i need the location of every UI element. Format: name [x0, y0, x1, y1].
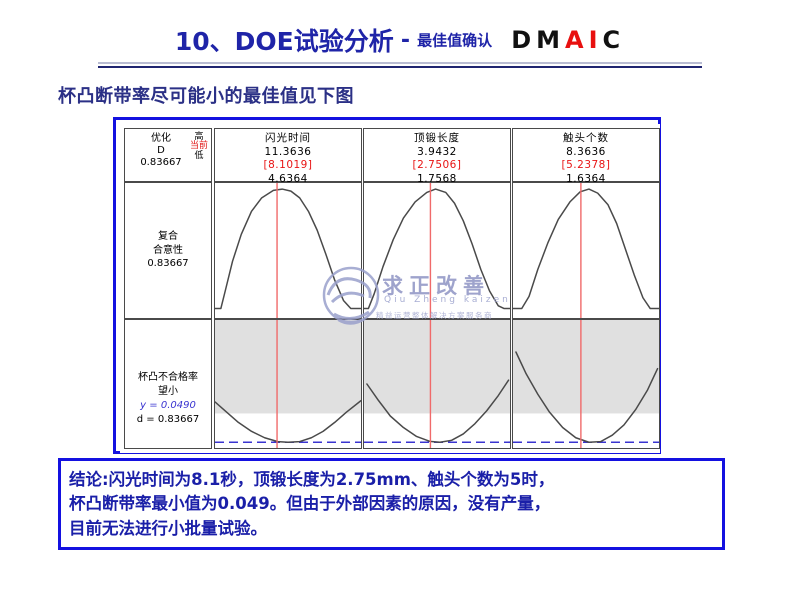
desirability-curve	[513, 189, 659, 308]
conclusion-line-2: 杯凸断带率最小值为0.049。但由于外部因素的原因，没有产量，	[69, 492, 717, 516]
factor-header-2: 顶锻长度3.9432[2.7506]1.7568	[363, 132, 511, 187]
title-dash: -	[399, 28, 412, 53]
plot-cell-r1-c3[interactable]	[512, 182, 660, 319]
page-subtitle: 杯凸断带率尽可能小的最佳值见下图	[58, 82, 354, 108]
composite-label-2: 合意性	[126, 244, 210, 258]
response-row-2-label: 杯凸不合格率 望小 y = 0.0490 d = 0.83667	[123, 371, 213, 427]
dmaic-letter-c: C	[603, 26, 626, 54]
plot-svg	[215, 320, 361, 448]
factor-current-value: [2.7506]	[363, 159, 511, 173]
plot-cell-r2-c2[interactable]	[363, 319, 511, 449]
plot-cell-r2-c1[interactable]	[214, 319, 362, 449]
factor-name: 顶锻长度	[363, 132, 511, 146]
dmaic-letter-m: M	[536, 26, 565, 54]
factor-header-1: 闪光时间11.3636[8.1019]4.6364	[214, 132, 362, 187]
response-goal: 望小	[123, 385, 213, 399]
conclusion-box: 结论:闪光时间为8.1秒，顶锻长度为2.75mm、触头个数为5时， 杯凸断带率最…	[58, 458, 725, 550]
title-number: 10、	[175, 27, 235, 56]
conclusion-line-3: 目前无法进行小批量试验。	[69, 517, 717, 541]
title-rule-top	[98, 62, 702, 64]
factor-high-value: 3.9432	[363, 146, 511, 160]
plot-svg	[364, 183, 510, 318]
plot-cell-r2-c3[interactable]	[512, 319, 660, 449]
factor-current-value: [5.2378]	[512, 159, 660, 173]
optimizer-corner-label: 优化 D 0.83667	[128, 133, 194, 168]
conclusion-text: 结论:闪光时间为8.1秒，顶锻长度为2.75mm、触头个数为5时， 杯凸断带率最…	[69, 468, 717, 541]
optimizer-value-d: 0.83667	[128, 157, 194, 169]
factor-current-value: [8.1019]	[214, 159, 362, 173]
plot-svg	[513, 320, 659, 448]
plot-svg	[513, 183, 659, 318]
axis-legend-low: 低	[194, 151, 203, 161]
plot-cell-r1-c1[interactable]	[214, 182, 362, 319]
shaded-band	[364, 320, 510, 413]
plot-svg	[215, 183, 361, 318]
optimizer-label-d: D	[128, 145, 194, 157]
dmaic-letter-i: I	[589, 26, 603, 54]
optimization-plot-frame: 优化 D 0.83667 高 当前 低 闪光时间11.3636[8.1019]4…	[113, 117, 661, 454]
plot-svg	[364, 320, 510, 448]
response-y-value: y = 0.0490	[123, 399, 213, 413]
response-d-value: d = 0.83667	[123, 413, 213, 427]
title-main: DOE试验分析	[235, 27, 394, 56]
factor-high-value: 8.3636	[512, 146, 660, 160]
factor-high-value: 11.3636	[214, 146, 362, 160]
response-name: 杯凸不合格率	[123, 371, 213, 385]
factor-header-3: 触头个数8.3636[5.2378]1.6364	[512, 132, 660, 187]
dmaic-badge: DMAIC	[511, 26, 625, 54]
desirability-curve	[215, 189, 361, 308]
composite-value: 0.83667	[126, 257, 210, 271]
composite-label-1: 复合	[126, 230, 210, 244]
shaded-band	[513, 320, 659, 413]
plot-cell-r1-c2[interactable]	[363, 182, 511, 319]
optimization-plot: 优化 D 0.83667 高 当前 低 闪光时间11.3636[8.1019]4…	[120, 124, 660, 453]
dmaic-letter-d: D	[511, 26, 536, 54]
dmaic-letter-a: A	[565, 26, 589, 54]
shaded-band	[215, 320, 361, 413]
desirability-curve	[364, 189, 510, 308]
factor-name: 闪光时间	[214, 132, 362, 146]
slide-title: 10、DOE试验分析 - 最佳值确认 DMAIC	[0, 22, 800, 58]
factor-name: 触头个数	[512, 132, 660, 146]
optimizer-axis-legend: 高 当前 低	[190, 132, 208, 161]
response-row-1-label: 复合 合意性 0.83667	[126, 230, 210, 271]
optimizer-label-optimize: 优化	[128, 133, 194, 145]
title-rule-bottom	[98, 66, 702, 68]
conclusion-line-1: 结论:闪光时间为8.1秒，顶锻长度为2.75mm、触头个数为5时，	[69, 468, 717, 492]
title-subtext: 最佳值确认	[417, 32, 492, 50]
